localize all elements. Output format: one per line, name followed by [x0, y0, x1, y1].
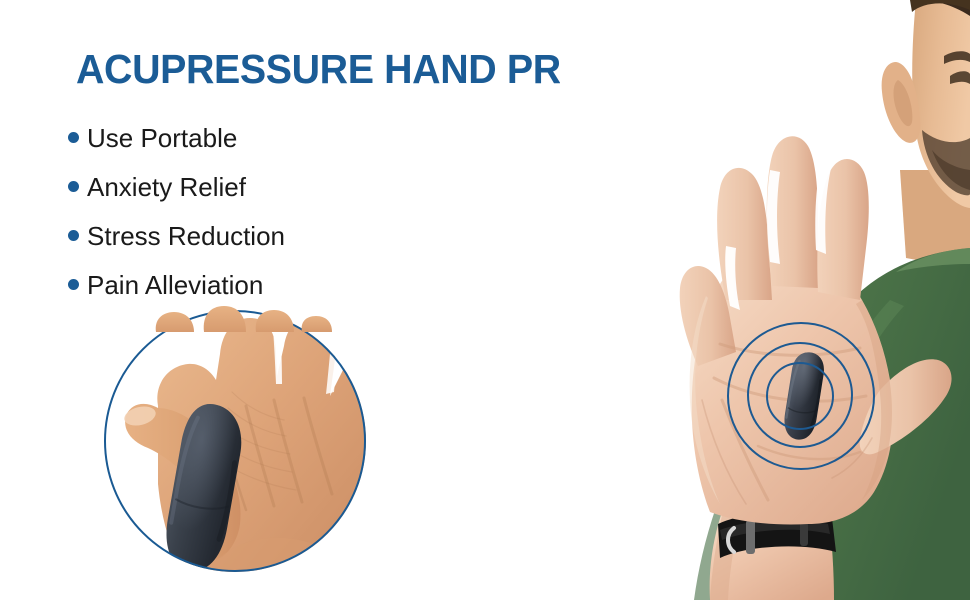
- list-item: Anxiety Relief: [68, 162, 285, 211]
- man-with-device-image: [560, 0, 970, 600]
- bullet-dot-icon: [68, 132, 79, 143]
- list-item: Use Portable: [68, 113, 285, 162]
- circular-inset-photo: [104, 310, 366, 572]
- inset-photo-clip: [104, 310, 366, 572]
- bullet-dot-icon: [68, 230, 79, 241]
- feature-label: Stress Reduction: [87, 223, 285, 249]
- list-item: Pain Alleviation: [68, 260, 285, 309]
- list-item: Stress Reduction: [68, 211, 285, 260]
- bullet-dot-icon: [68, 279, 79, 290]
- product-lifestyle-photo: [560, 0, 970, 600]
- hand-closeup-image: [104, 310, 366, 572]
- feature-list: Use Portable Anxiety Relief Stress Reduc…: [68, 113, 285, 309]
- feature-label: Anxiety Relief: [87, 174, 246, 200]
- pulse-ring-outer: [727, 322, 875, 470]
- feature-label: Use Portable: [87, 125, 237, 151]
- bullet-dot-icon: [68, 181, 79, 192]
- acupressure-banner: ACUPRESSURE HAND PRESSURE Use Portable A…: [0, 0, 970, 600]
- feature-label: Pain Alleviation: [87, 272, 263, 298]
